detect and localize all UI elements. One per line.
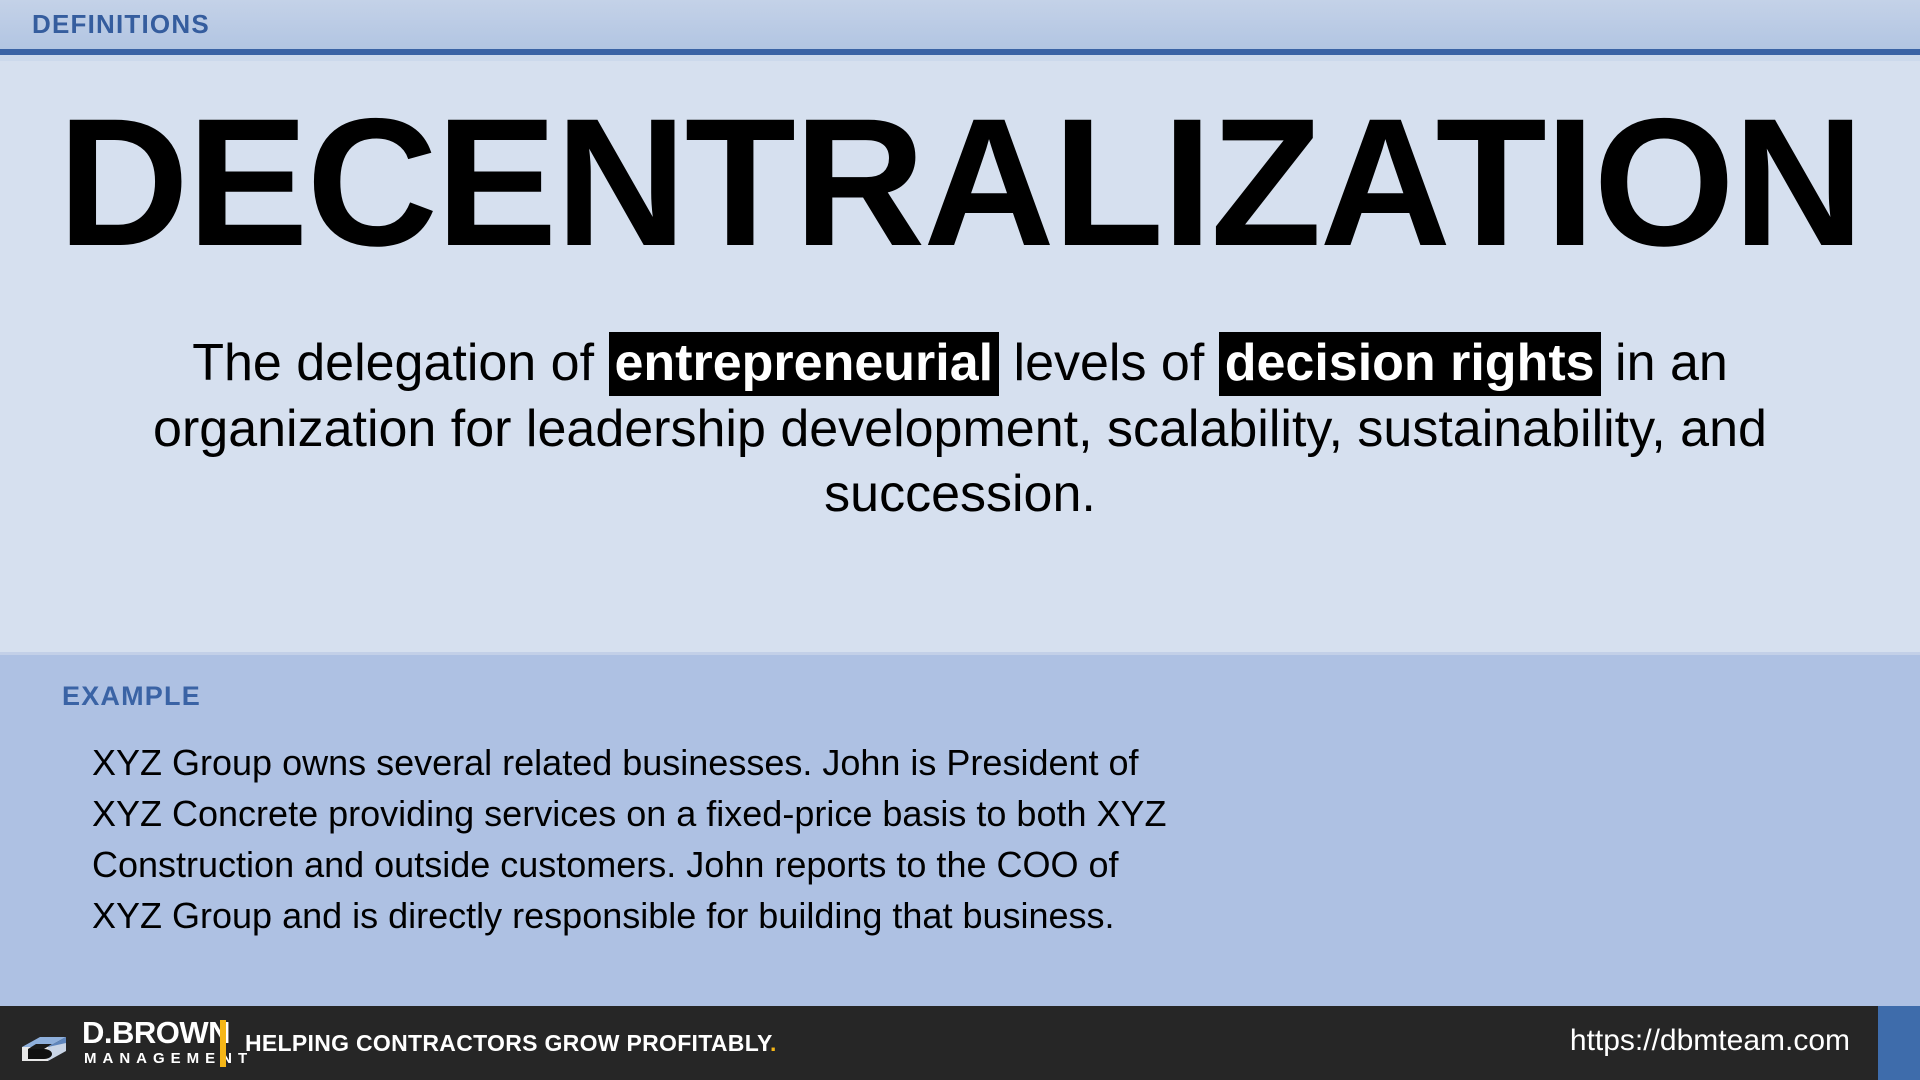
footer-tagline-text: HELPING CONTRACTORS GROW PROFITABLY bbox=[245, 1030, 770, 1056]
footer-bar: D.BROWN MANAGEMENT HELPING CONTRACTORS G… bbox=[0, 1006, 1920, 1080]
page-title: DECENTRALIZATION bbox=[0, 91, 1920, 273]
example-panel: EXAMPLE XYZ Group owns several related b… bbox=[0, 652, 1920, 1006]
dbrown-logo-icon bbox=[18, 1017, 70, 1069]
footer-logo-subtitle: MANAGEMENT bbox=[84, 1050, 253, 1067]
definitions-header-band: DEFINITIONS bbox=[0, 0, 1920, 55]
footer-tagline: HELPING CONTRACTORS GROW PROFITABLY. bbox=[245, 1030, 777, 1057]
example-section-label: EXAMPLE bbox=[62, 681, 201, 712]
definition-text: The delegation of entrepreneurial levels… bbox=[70, 331, 1850, 528]
definitions-panel: DECENTRALIZATION The delegation of entre… bbox=[0, 61, 1920, 652]
definition-part-1: The delegation of bbox=[192, 334, 608, 392]
example-body-text: XYZ Group owns several related businesse… bbox=[92, 737, 1172, 941]
highlight-entrepreneurial: entrepreneurial bbox=[609, 332, 1000, 396]
footer-tagline-period: . bbox=[770, 1030, 777, 1056]
footer-accent-block bbox=[1878, 1006, 1920, 1080]
footer-logo-name: D.BROWN bbox=[82, 1015, 230, 1051]
slide-canvas: DEFINITIONS DECENTRALIZATION The delegat… bbox=[0, 0, 1920, 1080]
highlight-decision-rights: decision rights bbox=[1219, 332, 1601, 396]
definitions-section-label: DEFINITIONS bbox=[32, 9, 210, 40]
definition-part-2: levels of bbox=[999, 334, 1219, 392]
footer-website-url[interactable]: https://dbmteam.com bbox=[1570, 1024, 1850, 1058]
footer-divider bbox=[220, 1020, 226, 1067]
